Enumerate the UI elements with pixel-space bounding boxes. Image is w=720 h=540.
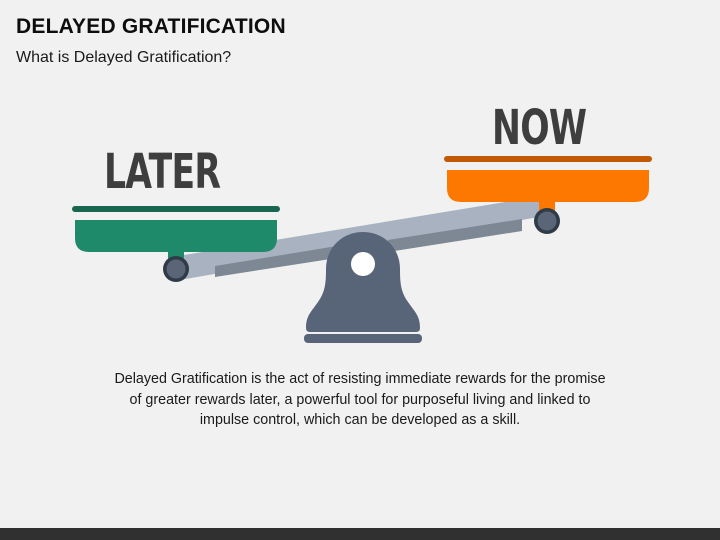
right-joint-fill bbox=[538, 212, 557, 231]
left-side-label: LATER bbox=[104, 148, 220, 196]
right-joint bbox=[534, 208, 560, 234]
left-joint bbox=[163, 256, 189, 282]
description-text: Delayed Gratification is the act of resi… bbox=[110, 369, 610, 431]
page-title: DELAYED GRATIFICATION bbox=[16, 15, 286, 39]
right-pan-rim bbox=[444, 156, 652, 162]
right-pan-body bbox=[447, 170, 649, 202]
balance-scale-illustration bbox=[0, 80, 720, 360]
left-joint-fill bbox=[167, 260, 186, 279]
footer-bar bbox=[0, 528, 720, 540]
page-subtitle: What is Delayed Gratification? bbox=[16, 49, 231, 67]
slide-canvas: DELAYED GRATIFICATION What is Delayed Gr… bbox=[0, 0, 720, 540]
left-pan-rim bbox=[72, 206, 280, 212]
left-pan-body bbox=[75, 220, 277, 252]
pivot-hole-icon bbox=[351, 252, 375, 276]
right-side-label: NOW bbox=[492, 104, 586, 152]
right-pan-group bbox=[444, 156, 652, 214]
fulcrum-base-plate bbox=[304, 334, 422, 343]
